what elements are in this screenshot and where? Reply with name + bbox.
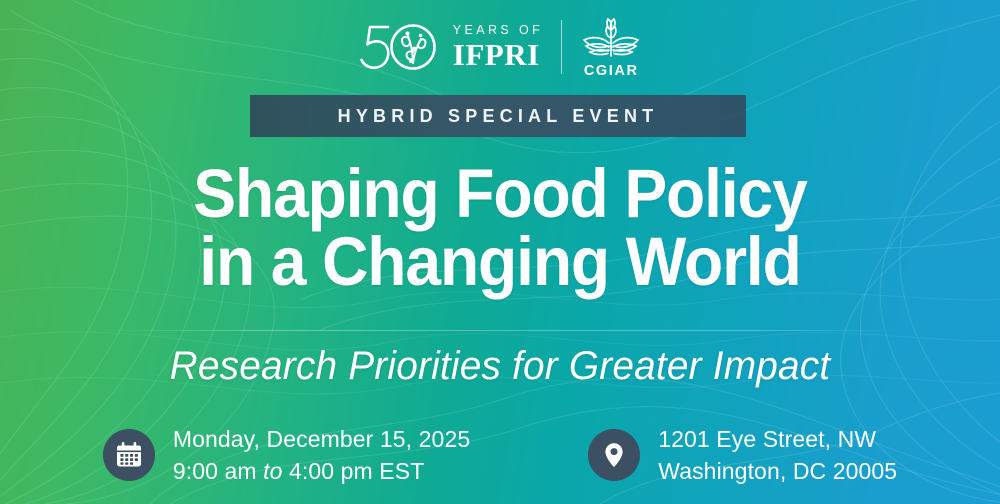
event-time-start: 9:00 am	[173, 458, 257, 484]
event-address-line-2: Washington, DC 20005	[658, 457, 897, 485]
event-time-end: 4:00 pm EST	[289, 458, 424, 484]
ifpri-name: IFPRI	[453, 39, 540, 70]
ifpri-wordmark: YEARS OF IFPRI	[453, 24, 543, 70]
event-location-text: 1201 Eye Street, NW Washington, DC 20005	[658, 425, 897, 484]
event-type-label: HYBRID SPECIAL EVENT	[338, 106, 659, 127]
ifpri-logo: YEARS OF IFPRI	[358, 19, 543, 75]
page-title: Shaping Food Policy in a Changing World	[0, 160, 1000, 295]
page-subtitle: Research Priorities for Greater Impact	[15, 344, 985, 389]
logo-row: YEARS OF IFPRI	[0, 14, 1000, 80]
event-address-line-1: 1201 Eye Street, NW	[658, 425, 897, 453]
cgiar-logo: CGIAR	[580, 16, 642, 79]
logo-divider	[561, 20, 562, 74]
subtitle-divider	[95, 330, 905, 331]
cgiar-name: CGIAR	[584, 63, 639, 79]
event-time-joiner: to	[263, 458, 282, 484]
event-type-band: HYBRID SPECIAL EVENT	[250, 95, 746, 137]
event-details-row: Monday, December 15, 2025 9:00 am to 4:0…	[0, 414, 1000, 496]
ifpri-50-anniversary-mark	[358, 19, 444, 75]
event-date: Monday, December 15, 2025	[173, 425, 470, 453]
event-time: 9:00 am to 4:00 pm EST	[173, 457, 470, 485]
title-line-2: in a Changing World	[35, 228, 965, 296]
map-pin-icon	[588, 429, 640, 481]
event-date-text: Monday, December 15, 2025 9:00 am to 4:0…	[173, 425, 470, 484]
title-line-1: Shaping Food Policy	[35, 160, 965, 228]
event-banner: YEARS OF IFPRI	[0, 0, 1000, 504]
event-location-block: 1201 Eye Street, NW Washington, DC 20005	[588, 425, 897, 484]
calendar-icon	[103, 429, 155, 481]
ifpri-years-of-label: YEARS OF	[453, 24, 543, 37]
cgiar-wheat-wings-icon	[580, 16, 642, 60]
event-date-block: Monday, December 15, 2025 9:00 am to 4:0…	[103, 425, 470, 484]
